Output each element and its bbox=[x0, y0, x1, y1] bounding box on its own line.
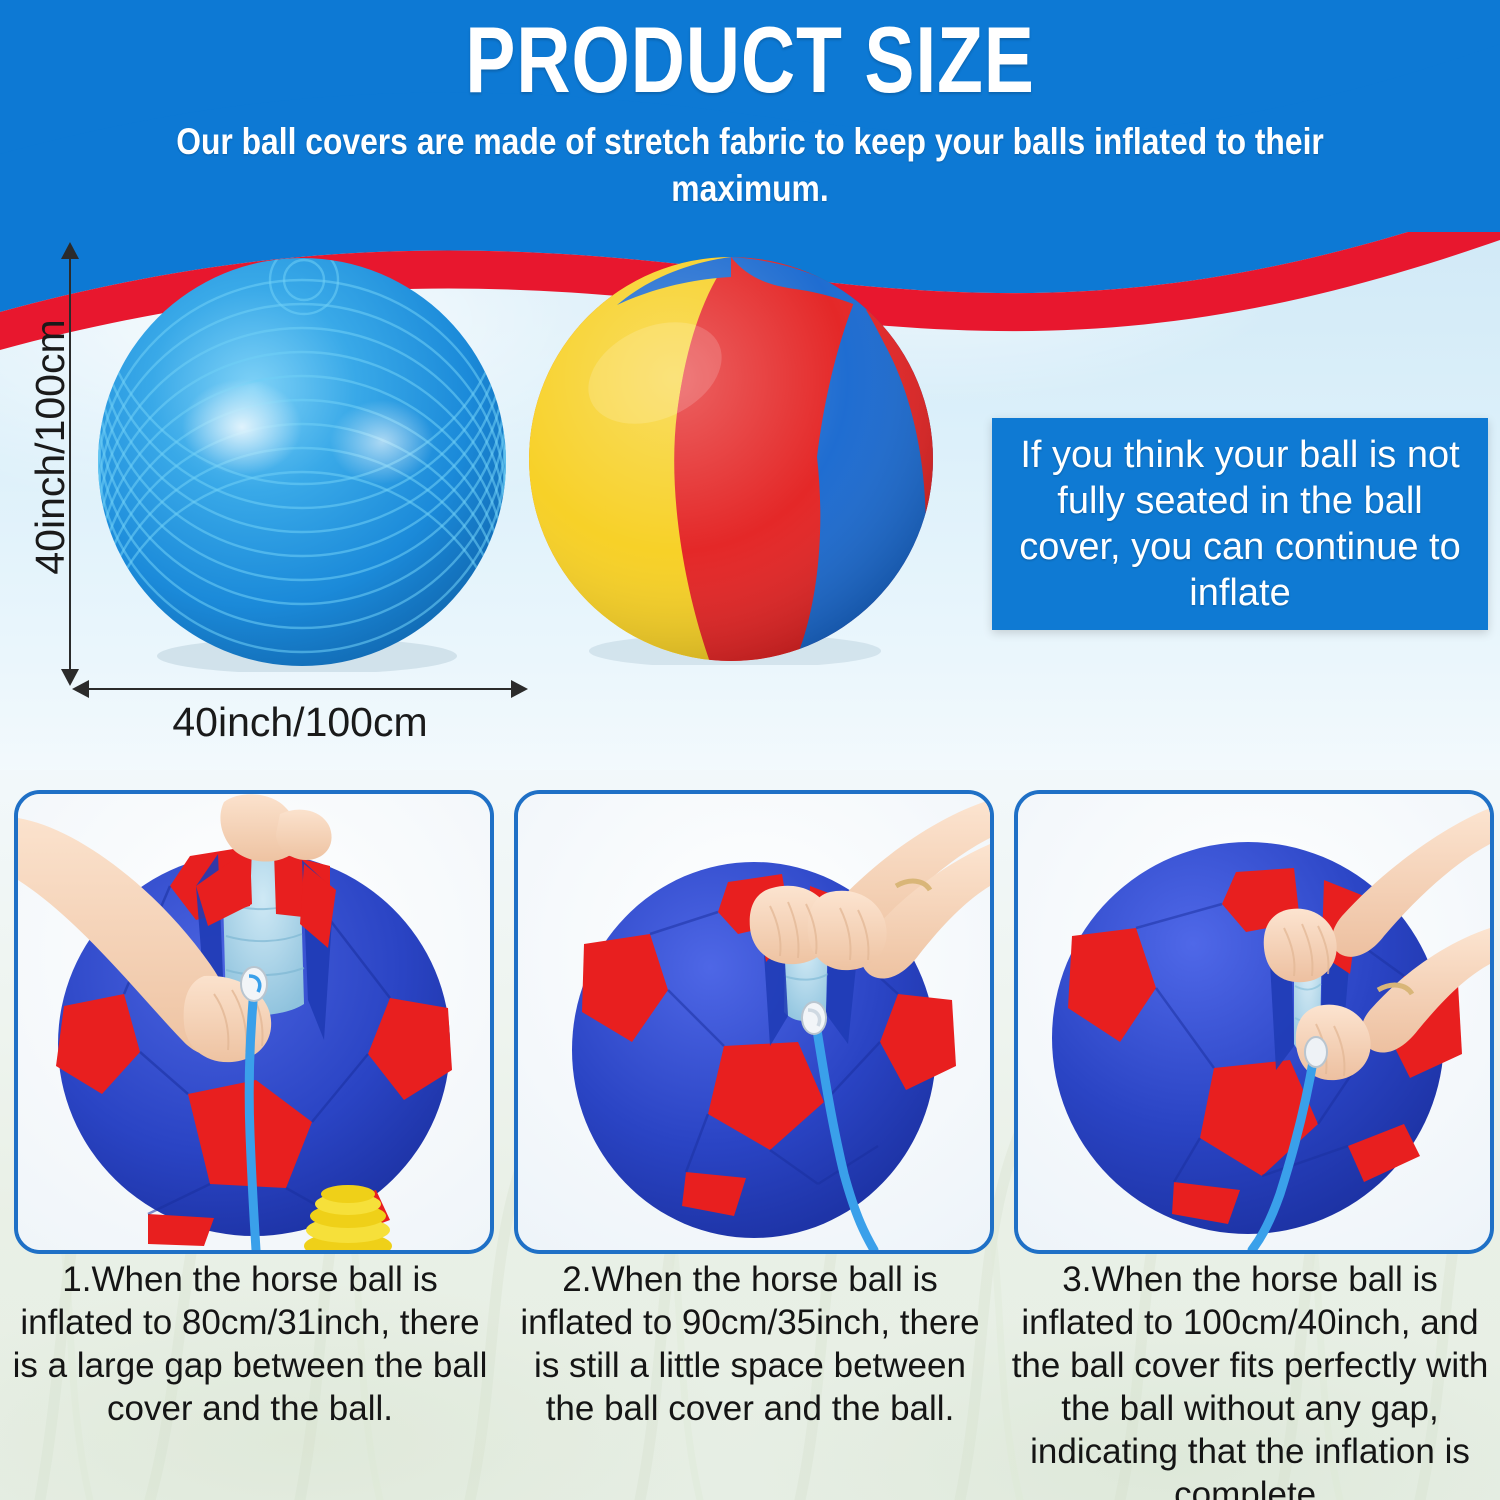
header-banner: PRODUCT SIZE Our ball covers are made of… bbox=[0, 0, 1500, 232]
step-photo-frame-1 bbox=[14, 790, 494, 1254]
step-photo-frame-3 bbox=[1014, 790, 1494, 1254]
beach-ball-image bbox=[525, 253, 937, 665]
step-caption-3: 3.When the horse ball is inflated to 100… bbox=[1000, 1258, 1500, 1500]
step-panel-2 bbox=[500, 782, 1000, 1254]
ball-cover-partially-seated-photo bbox=[518, 794, 990, 1250]
steps-panel-row bbox=[0, 782, 1500, 1254]
step-caption-1: 1.When the horse ball is inflated to 80c… bbox=[0, 1258, 500, 1500]
step-photo-frame-2 bbox=[514, 790, 994, 1254]
product-size-infographic: PRODUCT SIZE Our ball covers are made of… bbox=[0, 0, 1500, 1500]
header-subtitle: Our ball covers are made of stretch fabr… bbox=[148, 118, 1352, 212]
ball-cover-fully-seated-photo bbox=[1018, 794, 1490, 1250]
horizontal-dimension-arrow bbox=[88, 688, 512, 690]
ball-cover-loose-with-pump-photo bbox=[18, 794, 490, 1250]
step-panel-1 bbox=[0, 782, 500, 1254]
page-title: PRODUCT SIZE bbox=[150, 8, 1350, 112]
inflate-callout-box: If you think your ball is not fully seat… bbox=[992, 418, 1488, 630]
inflate-callout-text: If you think your ball is not fully seat… bbox=[992, 432, 1488, 616]
vertical-dimension-label: 40inch/100cm bbox=[28, 237, 72, 657]
step-panel-3 bbox=[1000, 782, 1500, 1254]
exercise-ball-image bbox=[92, 252, 512, 672]
horizontal-dimension-label: 40inch/100cm bbox=[88, 698, 512, 746]
step-caption-2: 2.When the horse ball is inflated to 90c… bbox=[500, 1258, 1000, 1500]
steps-caption-row: 1.When the horse ball is inflated to 80c… bbox=[0, 1258, 1500, 1500]
